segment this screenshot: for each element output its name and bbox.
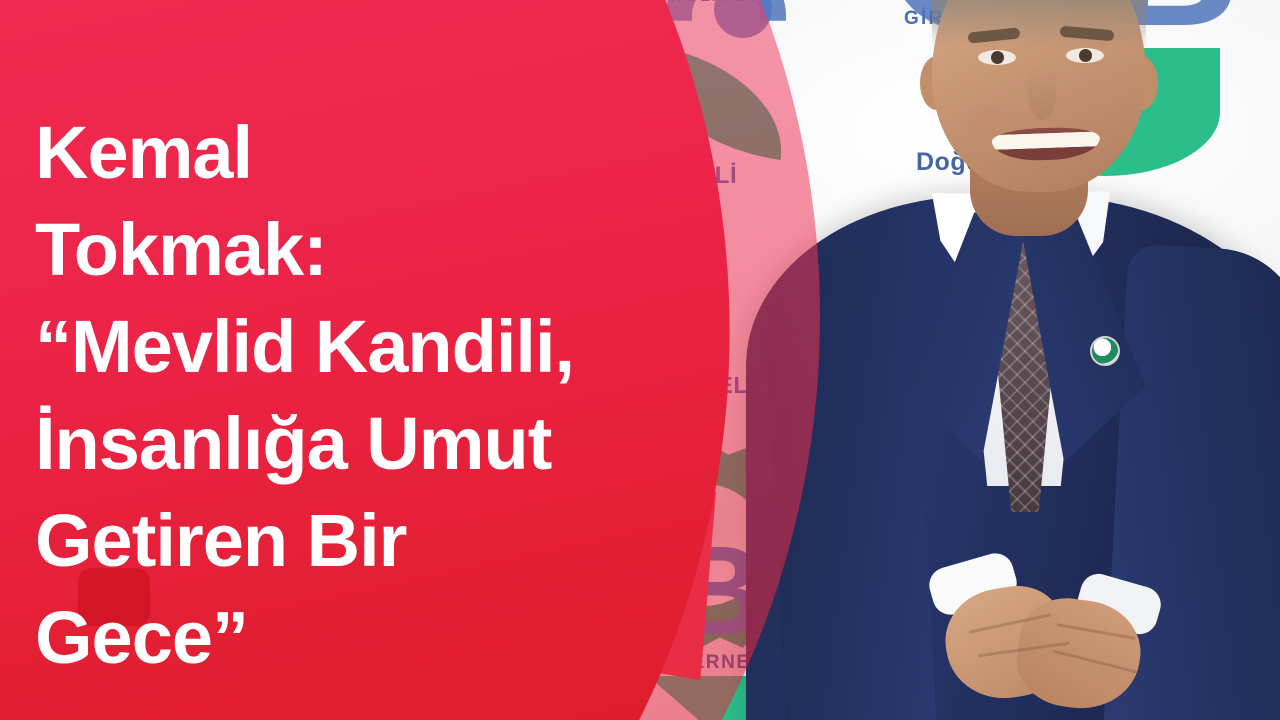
lapel-pin-icon — [1090, 336, 1120, 366]
hair — [932, 0, 1146, 48]
headline-line-6: Gece” — [35, 589, 735, 686]
headline-line-5: Getiren Bir — [35, 492, 735, 589]
eye-left — [978, 50, 1016, 65]
headline-line-2: Tokmak: — [35, 201, 735, 298]
headline-line-3: “Mevlid Kandili, — [35, 298, 735, 395]
banner-graphic: K DERNEĞİ B GİRESUN R DERNEĞİ Doğdu İRES… — [0, 0, 1280, 720]
headline-line-1: Kemal — [35, 104, 735, 201]
nose — [1028, 68, 1056, 120]
headline-line-4: İnsanlığa Umut — [35, 395, 735, 492]
subject-figure — [756, 0, 1280, 720]
eye-right — [1066, 48, 1104, 63]
headline: KemalTokmak:“Mevlid Kandili,İnsanlığa Um… — [35, 104, 735, 686]
